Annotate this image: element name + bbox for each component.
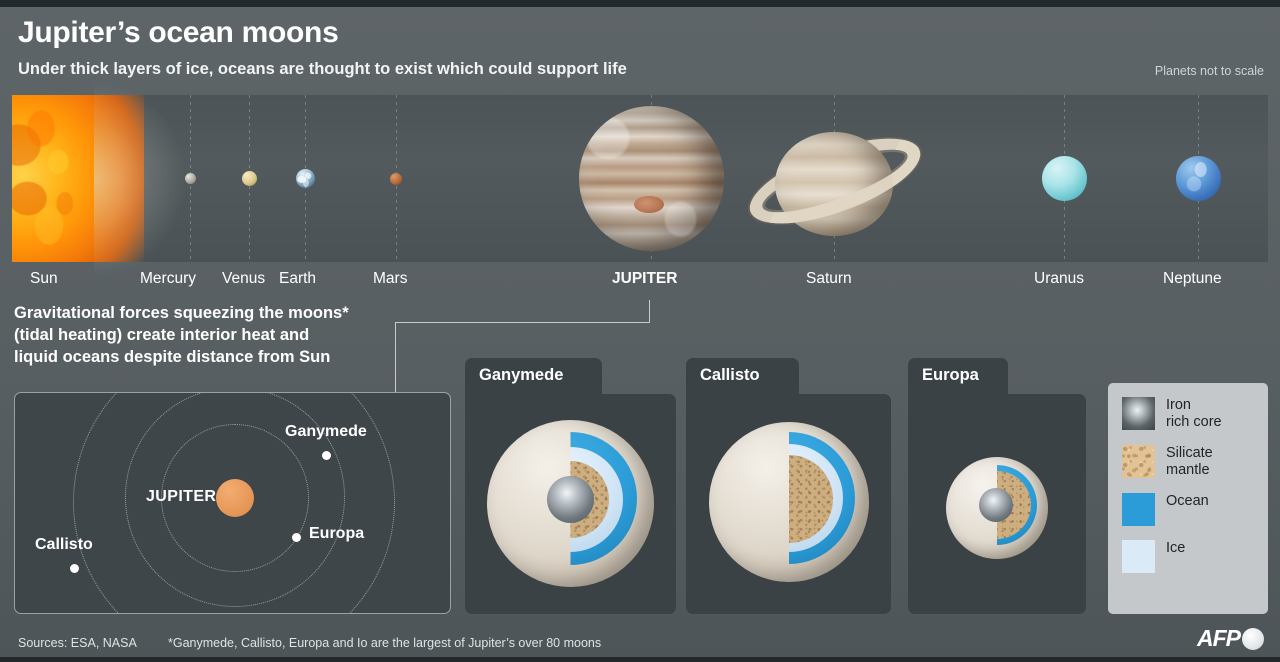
planet-label-mercury: Mercury [140,270,196,288]
orbit-label-europa: Europa [309,525,364,543]
legend-label-core-line2: rich core [1166,414,1222,431]
planet-label-neptune: Neptune [1163,270,1222,288]
planet-label-uranus: Uranus [1034,270,1084,288]
legend-label-mantle-line1: Silicate [1166,445,1213,462]
legend-swatch-ice-icon [1122,540,1155,573]
legend-label-ice: Ice [1166,540,1185,557]
planet-venus [242,171,257,186]
leader-line-down-left [395,322,396,394]
afp-dot-icon [1242,628,1264,650]
explainer-line-2: (tidal heating) create interior heat and [14,324,434,346]
legend-item-ice: Ice [1122,540,1268,573]
sun-halo [94,83,184,275]
europa-cutaway [946,457,1048,559]
legend-item-mantle: Silicate mantle [1122,445,1268,479]
legend-label-mantle: Silicate mantle [1166,445,1213,479]
moon-card-title-callisto: Callisto [700,366,760,385]
planet-label-earth: Earth [279,270,316,288]
moon-card-tab-callisto: Callisto [686,358,799,394]
orbit-dot-callisto [70,564,79,573]
jupiter-orbit-panel: JUPITER Ganymede Europa Callisto [14,392,451,614]
planet-neptune [1176,156,1221,201]
scale-disclaimer: Planets not to scale [1155,64,1264,78]
top-edge-bar [0,0,1280,7]
planet-label-jupiter: JUPITER [612,270,677,288]
afp-logo: AFP [1197,625,1264,652]
explainer-line-3: liquid oceans despite distance from Sun [14,346,434,368]
infographic-root: Jupiter’s ocean moons Under thick layers… [0,0,1280,662]
solar-system-band [12,95,1268,262]
afp-wordmark: AFP [1197,625,1240,652]
legend-item-ocean: Ocean [1122,493,1268,526]
legend-label-mantle-line2: mantle [1166,462,1213,479]
explainer-line-1: Gravitational forces squeezing the moons… [14,302,434,324]
leader-line-horizontal [395,322,650,323]
orbit-label-ganymede: Ganymede [285,423,367,441]
moon-card-tab-ganymede: Ganymede [465,358,602,394]
legend-swatch-silicate-mantle-icon [1122,445,1155,478]
explainer-text: Gravitational forces squeezing the moons… [14,302,434,368]
moon-card-ganymede: Ganymede [465,358,676,614]
orbit-dot-ganymede [322,451,331,460]
planet-uranus [1042,156,1087,201]
planet-mars [390,173,402,185]
legend-panel: Iron rich core Silicate mantle Ocean Ice [1108,383,1268,614]
page-subtitle: Under thick layers of ice, oceans are th… [18,60,627,79]
legend-label-core-line1: Iron [1166,397,1222,414]
legend-swatch-iron-core-icon [1122,397,1155,430]
legend-label-ocean: Ocean [1166,493,1209,510]
footer-note: *Ganymede, Callisto, Europa and Io are t… [168,636,601,650]
legend-swatch-ocean-icon [1122,493,1155,526]
planet-earth [296,169,315,188]
planet-label-mars: Mars [373,270,407,288]
moon-card-tab-europa: Europa [908,358,1008,394]
ganymede-cutaway [487,420,654,587]
planet-label-saturn: Saturn [806,270,852,288]
moon-card-callisto: Callisto [686,358,891,614]
callisto-cutaway [709,422,869,582]
leader-line-up-right [649,300,650,323]
orbit-label-callisto: Callisto [35,536,93,554]
europa-iron-core [979,488,1013,522]
footer-sources: Sources: ESA, NASA [18,636,137,650]
ganymede-iron-core [547,476,594,523]
planet-mercury [185,173,196,184]
orbit-jupiter-dot [216,479,254,517]
planet-label-venus: Venus [222,270,265,288]
moon-card-europa: Europa [908,358,1086,614]
orbit-label-jupiter: JUPITER [146,488,216,506]
planet-label-sun: Sun [30,270,58,288]
moon-card-title-europa: Europa [922,366,979,385]
legend-item-core: Iron rich core [1122,397,1268,431]
legend-label-core: Iron rich core [1166,397,1222,431]
planet-saturn [745,104,925,254]
page-title: Jupiter’s ocean moons [18,16,338,50]
bottom-edge-bar [0,657,1280,662]
planet-jupiter [579,106,724,251]
orbit-dot-europa [292,533,301,542]
moon-card-title-ganymede: Ganymede [479,366,563,385]
